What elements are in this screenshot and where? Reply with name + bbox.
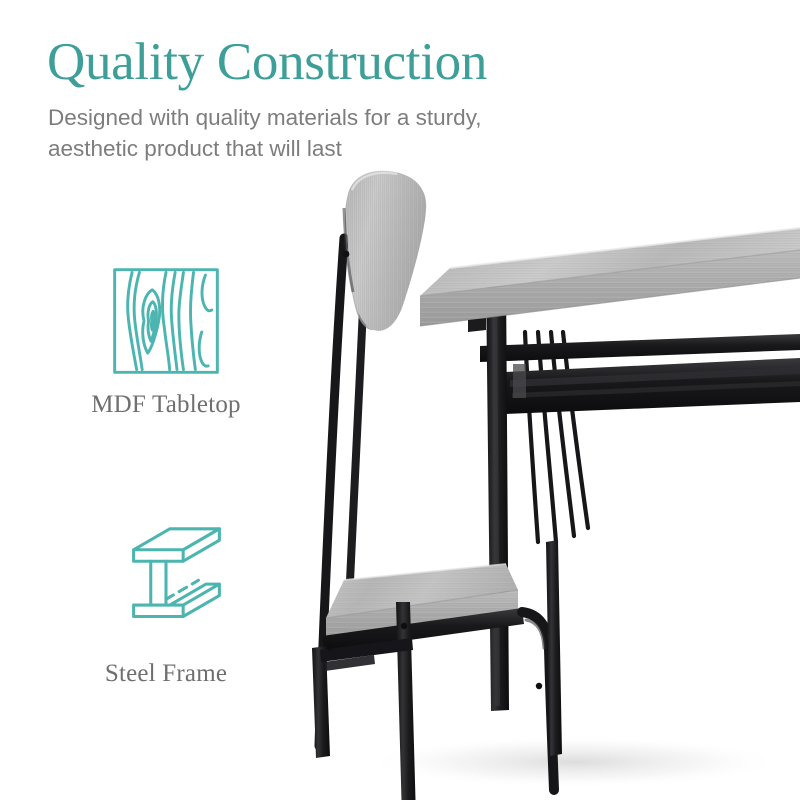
chair-bolt-2 (401, 623, 407, 629)
dining-set-photo (300, 150, 800, 800)
chair-bolt-3 (536, 683, 542, 689)
bench-rail (505, 358, 800, 414)
feature-steel-frame-label: Steel Frame (46, 659, 286, 689)
floor-shadow (365, 736, 785, 788)
table-top (420, 228, 800, 332)
i-beam-icon (105, 525, 227, 641)
table-hairpin-supports (525, 332, 588, 542)
feature-mdf-tabletop: MDF Tabletop (46, 266, 286, 420)
backrest-bolt (343, 251, 350, 258)
feature-mdf-tabletop-label: MDF Tabletop (46, 390, 286, 420)
page-title: Quality Construction (47, 33, 487, 91)
product-feature-card: Quality Construction Designed with quali… (0, 0, 800, 800)
feature-steel-frame: Steel Frame (46, 525, 286, 689)
table-group (420, 228, 800, 711)
wood-grain-icon (111, 266, 221, 376)
table-stretcher (480, 334, 800, 362)
chair-bolt-1 (327, 644, 333, 650)
chair-backrest (344, 171, 426, 331)
page-subtitle-line-1: Designed with quality materials for a st… (48, 102, 608, 133)
